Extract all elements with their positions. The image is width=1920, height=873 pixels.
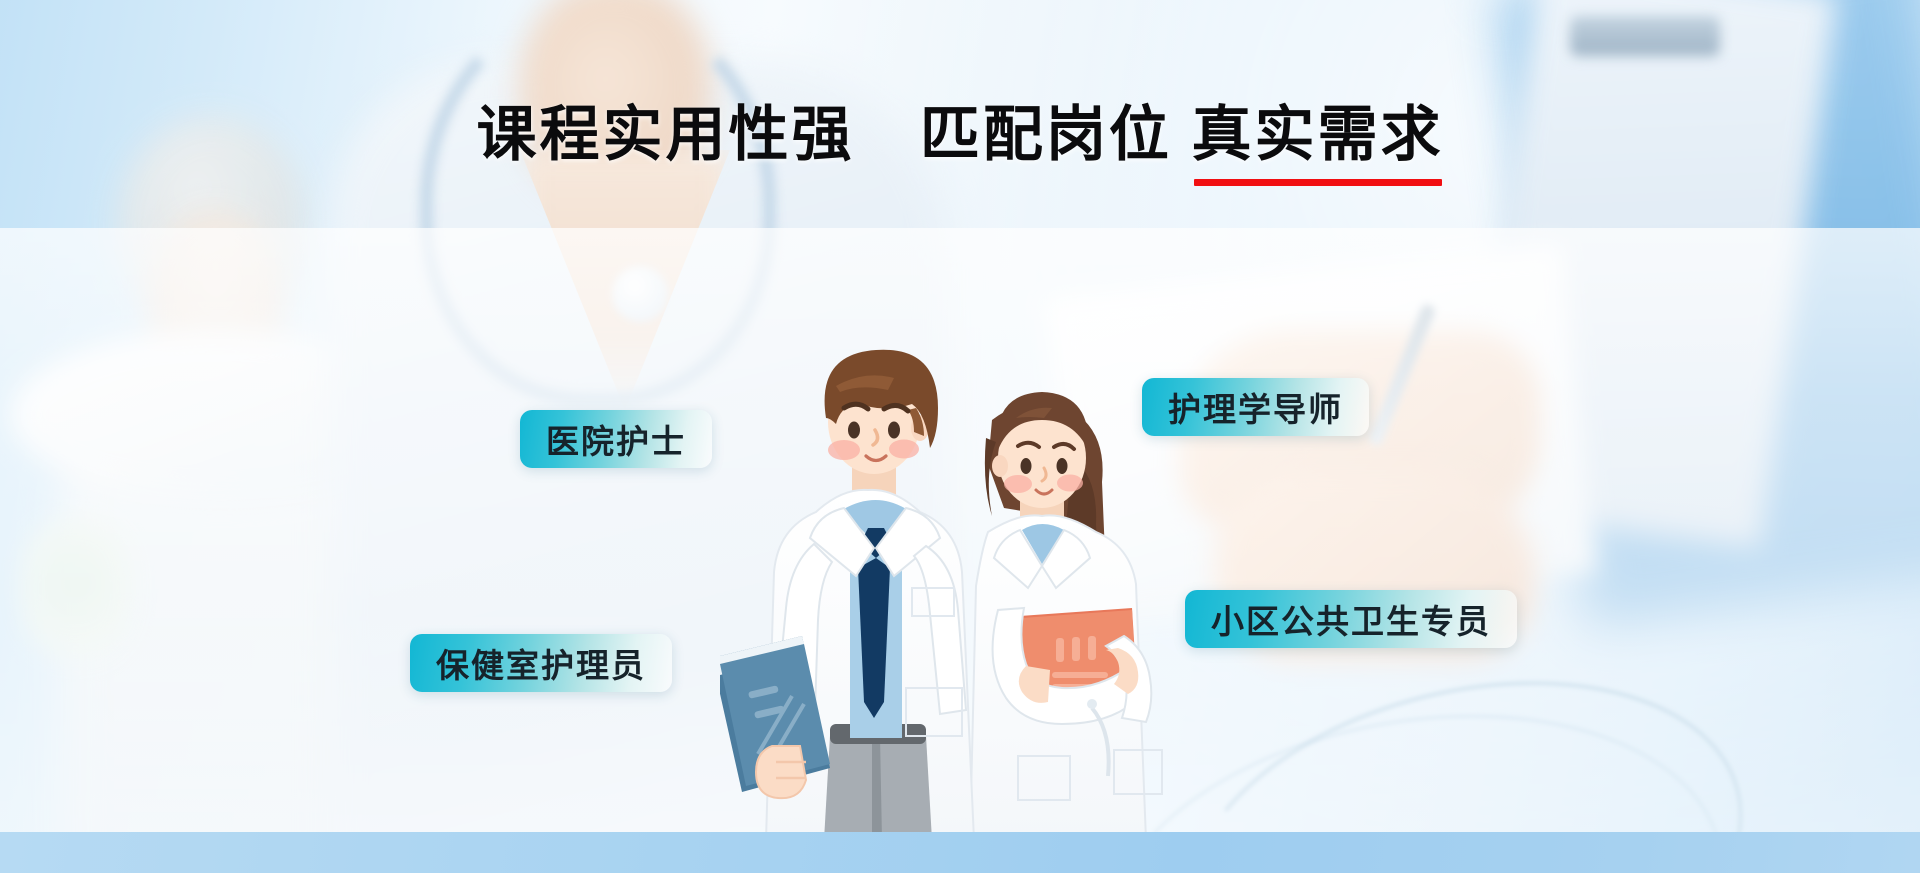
- role-pill-hospital-nurse[interactable]: 医院护士: [520, 410, 712, 468]
- bottom-color-band: [0, 832, 1920, 873]
- medical-professionals-illustration: [720, 300, 1200, 840]
- role-pill-label: 小区公共卫生专员: [1211, 595, 1491, 643]
- role-pill-label: 保健室护理员: [436, 639, 646, 687]
- role-pill-label: 医院护士: [546, 415, 686, 463]
- course-banner: 课程实用性强 匹配岗位 真实需求 医院护士 护理学导师 保健室护理员 小区公共卫…: [0, 0, 1920, 873]
- headline-part-one: 课程实用性强: [476, 86, 854, 173]
- role-pill-community-health-worker[interactable]: 小区公共卫生专员: [1185, 590, 1517, 648]
- background-stethoscope-bell: [612, 266, 668, 322]
- headline-part-two: 匹配岗位: [920, 86, 1172, 173]
- male-doctor-figure: [720, 350, 974, 840]
- page-title: 课程实用性强 匹配岗位 真实需求: [0, 86, 1920, 173]
- female-nurse-figure: [970, 392, 1162, 840]
- background-clipboard-clamp: [1570, 16, 1720, 56]
- headline-underlined-part: 真实需求: [1192, 86, 1444, 173]
- role-pill-clinic-aide[interactable]: 保健室护理员: [410, 634, 672, 692]
- background-plant: [20, 520, 130, 660]
